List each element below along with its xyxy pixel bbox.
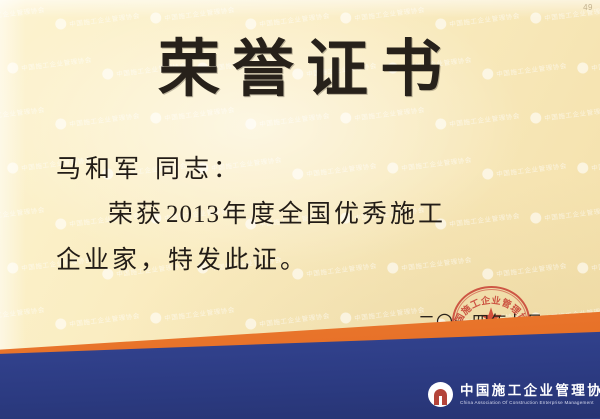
- association-emblem-icon: [428, 382, 453, 407]
- watermark-emblem-icon: [55, 318, 67, 330]
- watermark-emblem-icon: [245, 318, 257, 330]
- watermark-emblem-icon: [55, 18, 67, 30]
- certificate-body: 马和军 同志： 荣获2013年度全国优秀施工 企业家，特发此证。: [56, 146, 560, 282]
- watermark-stamp: 中国施工企业管理协会: [0, 3, 45, 24]
- watermark-stamp: 中国施工企业管理协会: [245, 9, 331, 30]
- watermark-stamp: 中国施工企业管理协会: [245, 309, 331, 330]
- watermark-stamp: 中国施工企业管理协会: [340, 303, 426, 324]
- emblem-arch-notch: [439, 396, 442, 405]
- watermark-text: 中国施工企业管理协会: [544, 103, 600, 122]
- page-corner-mark: 49: [583, 3, 593, 12]
- award-year: 2013: [164, 201, 222, 228]
- watermark-text: 中国施工企业管理协会: [0, 303, 45, 322]
- watermark-text: 中国施工企业管理协会: [259, 309, 331, 328]
- watermark-emblem-icon: [7, 262, 19, 274]
- watermark-text: 中国施工企业管理协会: [259, 109, 331, 128]
- watermark-text: 中国施工企业管理协会: [0, 103, 45, 122]
- award-statement-line-1: 荣获2013年度全国优秀施工: [56, 191, 560, 237]
- watermark-emblem-icon: [245, 18, 257, 30]
- watermark-emblem-icon: [150, 112, 162, 124]
- watermark-text: 中国施工企业管理协会: [354, 303, 426, 322]
- watermark-text: 中国施工企业管理协会: [354, 103, 426, 122]
- watermark-stamp: 中国施工企业管理协会: [577, 153, 600, 174]
- award-statement-line-2: 企业家，特发此证。: [56, 237, 560, 282]
- watermark-stamp: 中国施工企业管理协会: [577, 253, 600, 274]
- watermark-text: 中国施工企业管理协会: [449, 109, 521, 128]
- watermark-text: 中国施工企业管理协会: [0, 203, 45, 222]
- watermark-text: 中国施工企业管理协会: [164, 3, 236, 22]
- award-prefix: 荣获: [108, 199, 164, 228]
- watermark-emblem-icon: [577, 262, 589, 274]
- watermark-text: 中国施工企业管理协会: [0, 3, 45, 22]
- watermark-stamp: 中国施工企业管理协会: [0, 203, 45, 224]
- watermark-stamp: 中国施工企业管理协会: [530, 103, 600, 124]
- footer-organization-logo: 中国施工企业管理协会 China Association Of Construc…: [428, 382, 600, 407]
- watermark-text: 中国施工企业管理协会: [591, 253, 600, 272]
- watermark-emblem-icon: [435, 18, 447, 30]
- watermark-stamp: 中国施工企业管理协会: [340, 103, 426, 124]
- watermark-emblem-icon: [150, 312, 162, 324]
- watermark-emblem-icon: [340, 312, 352, 324]
- watermark-text: 中国施工企业管理协会: [69, 109, 141, 128]
- watermark-emblem-icon: [577, 162, 589, 174]
- watermark-text: 中国施工企业管理协会: [69, 309, 141, 328]
- certificate-title: 荣誉证书: [0, 38, 600, 100]
- watermark-emblem-icon: [530, 12, 542, 24]
- recipient-salutation: 马和军 同志：: [56, 146, 560, 191]
- organization-name-cn: 中国施工企业管理协会: [460, 384, 600, 398]
- watermark-stamp: 中国施工企业管理协会: [0, 303, 45, 324]
- watermark-stamp: 中国施工企业管理协会: [245, 109, 331, 130]
- watermark-text: 中国施工企业管理协会: [591, 153, 600, 172]
- certificate-document: 中国施工企业管理协会中国施工企业管理协会中国施工企业管理协会中国施工企业管理协会…: [0, 0, 600, 419]
- watermark-text: 中国施工企业管理协会: [354, 3, 426, 22]
- watermark-stamp: 中国施工企业管理协会: [55, 309, 141, 330]
- watermark-emblem-icon: [435, 118, 447, 130]
- watermark-stamp: 中国施工企业管理协会: [0, 103, 45, 124]
- watermark-text: 中国施工企业管理协会: [164, 303, 236, 322]
- watermark-text: 中国施工企业管理协会: [449, 9, 521, 28]
- watermark-stamp: 中国施工企业管理协会: [55, 109, 141, 130]
- paper-edge-highlight-top: [0, 0, 600, 18]
- award-suffix: 年度全国优秀施工: [222, 199, 446, 228]
- watermark-emblem-icon: [245, 118, 257, 130]
- watermark-stamp: 中国施工企业管理协会: [340, 3, 426, 24]
- watermark-text: 中国施工企业管理协会: [164, 103, 236, 122]
- watermark-stamp: 中国施工企业管理协会: [435, 109, 521, 130]
- footer-organization-names: 中国施工企业管理协会 China Association Of Construc…: [460, 384, 600, 404]
- watermark-emblem-icon: [7, 162, 19, 174]
- watermark-emblem-icon: [340, 112, 352, 124]
- watermark-emblem-icon: [150, 12, 162, 24]
- watermark-text: 中国施工企业管理协会: [69, 9, 141, 28]
- organization-name-en: China Association Of Construction Enterp…: [460, 400, 600, 405]
- watermark-emblem-icon: [55, 118, 67, 130]
- watermark-text: 中国施工企业管理协会: [259, 9, 331, 28]
- watermark-stamp: 中国施工企业管理协会: [150, 303, 236, 324]
- watermark-stamp: 中国施工企业管理协会: [435, 9, 521, 30]
- watermark-stamp: 中国施工企业管理协会: [150, 103, 236, 124]
- watermark-emblem-icon: [530, 112, 542, 124]
- watermark-emblem-icon: [340, 12, 352, 24]
- watermark-stamp: 中国施工企业管理协会: [150, 3, 236, 24]
- watermark-stamp: 中国施工企业管理协会: [55, 9, 141, 30]
